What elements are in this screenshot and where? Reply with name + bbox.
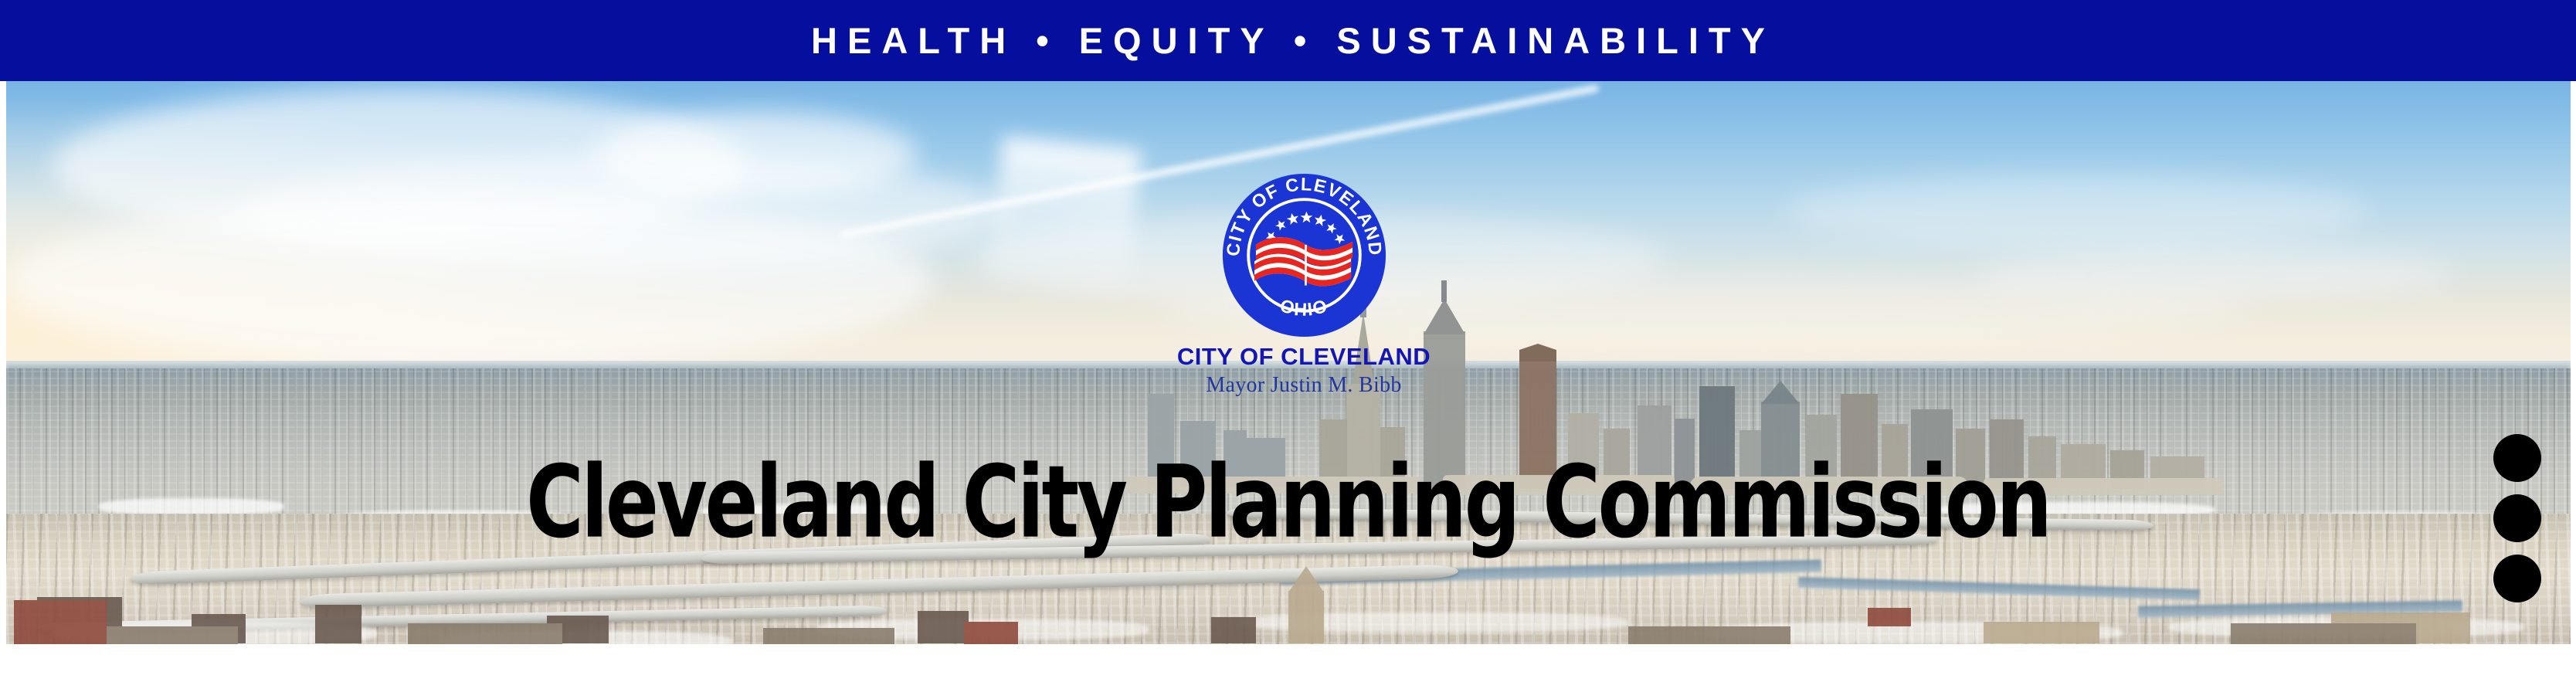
social-link-facebook[interactable] (2493, 555, 2541, 602)
page-root: HEALTH • EQUITY • SUSTAINABILITY (0, 0, 2576, 682)
city-of-cleveland-seal-icon: CITY OF CLEVELAND OHIO (1221, 172, 1387, 338)
youtube-icon (2502, 443, 2533, 473)
bottom-white-strip (0, 644, 2576, 682)
social-links (2493, 434, 2541, 602)
brand-subtitle: Mayor Justin M. Bibb (1153, 374, 1454, 396)
hero-photo: CITY OF CLEVELAND OHIO (6, 81, 2571, 644)
facebook-icon (2502, 563, 2533, 594)
tagline-banner: HEALTH • EQUITY • SUSTAINABILITY (0, 0, 2576, 81)
social-link-instagram[interactable] (2493, 494, 2541, 542)
city-brand-block: CITY OF CLEVELAND OHIO (1153, 172, 1454, 396)
instagram-icon (2502, 503, 2533, 534)
tagline-text: HEALTH • EQUITY • SUSTAINABILITY (801, 22, 1775, 59)
brand-name: CITY OF CLEVELAND (1153, 344, 1454, 370)
social-link-youtube[interactable] (2493, 434, 2541, 482)
